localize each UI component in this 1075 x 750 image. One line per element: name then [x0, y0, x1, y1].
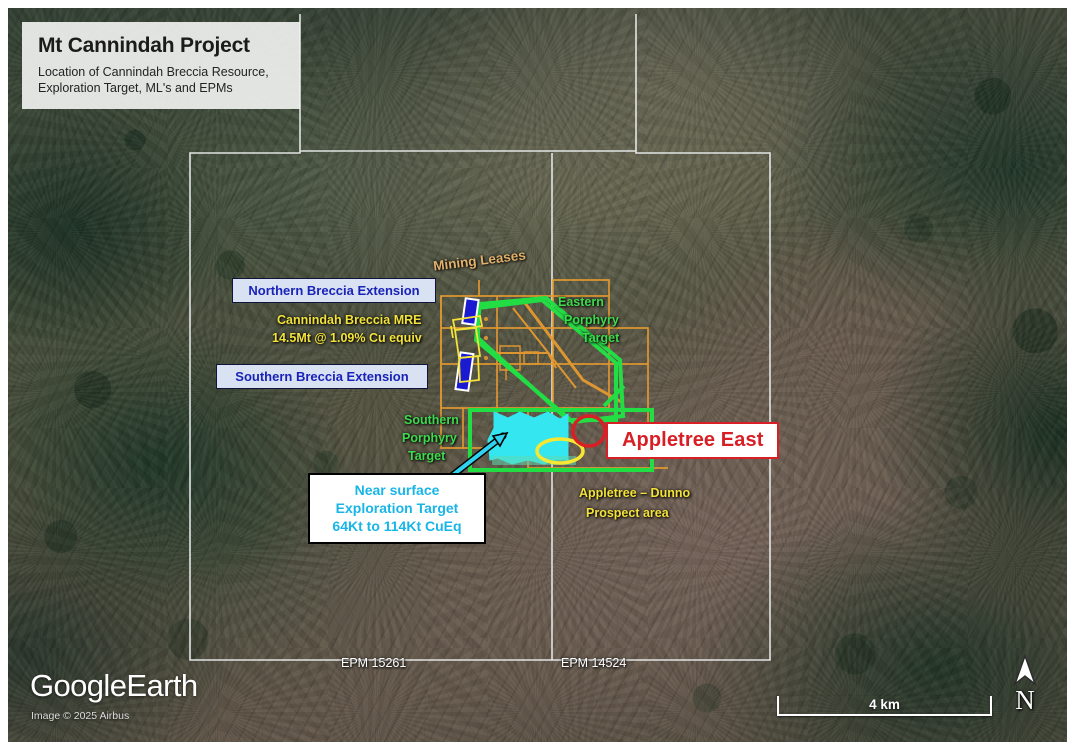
- callout-appletree-east[interactable]: Appletree East: [606, 422, 779, 459]
- label-eastern-porphyry-line2: Porphyry: [564, 313, 619, 328]
- label-southern-porphyry-line1: Southern: [404, 413, 459, 428]
- google-earth-logo: GoogleEarth: [30, 668, 197, 704]
- imagery-attribution: Image © 2025 Airbus: [31, 710, 129, 722]
- exploration-target-line3: 64Kt to 114Kt CuEq: [322, 517, 472, 535]
- north-arrow-icon: [1012, 654, 1038, 688]
- north-letter: N: [1005, 688, 1045, 714]
- ml-marker-1: [484, 317, 488, 321]
- scale-bar-label: 4 km: [777, 697, 992, 712]
- exploration-target-line2: Exploration Target: [322, 499, 472, 517]
- map-vector-overlay: [8, 8, 1067, 742]
- callout-northern-breccia-extension[interactable]: Northern Breccia Extension: [232, 278, 436, 303]
- exploration-target-line1: Near surface: [322, 481, 472, 499]
- label-appletree-dunno-line2: Prospect area: [586, 506, 669, 521]
- mining-lease-markers: [484, 317, 488, 360]
- map-page: Mining Leases Cannindah Breccia MRE 14.5…: [0, 0, 1075, 750]
- google-wordmark: Google: [30, 668, 126, 703]
- label-epm-15261: EPM 15261: [341, 656, 406, 671]
- label-eastern-porphyry-line3: Target: [582, 331, 619, 346]
- label-appletree-dunno-line1: Appletree – Dunno: [579, 486, 690, 501]
- page-title: Mt Cannindah Project: [38, 34, 286, 58]
- label-cannindah-mre-line2: 14.5Mt @ 1.09% Cu equiv: [272, 331, 422, 346]
- callout-southern-breccia-extension[interactable]: Southern Breccia Extension: [216, 364, 428, 389]
- scale-bar: 4 km: [777, 696, 992, 716]
- earth-wordmark: Earth: [126, 668, 197, 703]
- ml-marker-2: [484, 336, 488, 340]
- northern-breccia-block: [462, 298, 478, 325]
- label-eastern-porphyry-line1: Eastern: [558, 295, 604, 310]
- overlay-svg: [8, 8, 1067, 742]
- callout-exploration-target[interactable]: Near surface Exploration Target 64Kt to …: [308, 473, 486, 544]
- satellite-basemap[interactable]: Mining Leases Cannindah Breccia MRE 14.5…: [8, 8, 1067, 742]
- label-cannindah-mre-line1: Cannindah Breccia MRE: [277, 313, 421, 328]
- north-arrow: N: [1005, 654, 1045, 714]
- ml-marker-3: [484, 356, 488, 360]
- title-subtitle-line2: Exploration Target, ML's and EPMs: [38, 80, 286, 97]
- label-southern-porphyry-line2: Porphyry: [402, 431, 457, 446]
- label-epm-14524: EPM 14524: [561, 656, 626, 671]
- title-subtitle-line1: Location of Cannindah Breccia Resource,: [38, 64, 286, 81]
- ml-line-north: [553, 280, 609, 296]
- label-southern-porphyry-line3: Target: [408, 449, 445, 464]
- title-card: Mt Cannindah Project Location of Cannind…: [22, 22, 300, 109]
